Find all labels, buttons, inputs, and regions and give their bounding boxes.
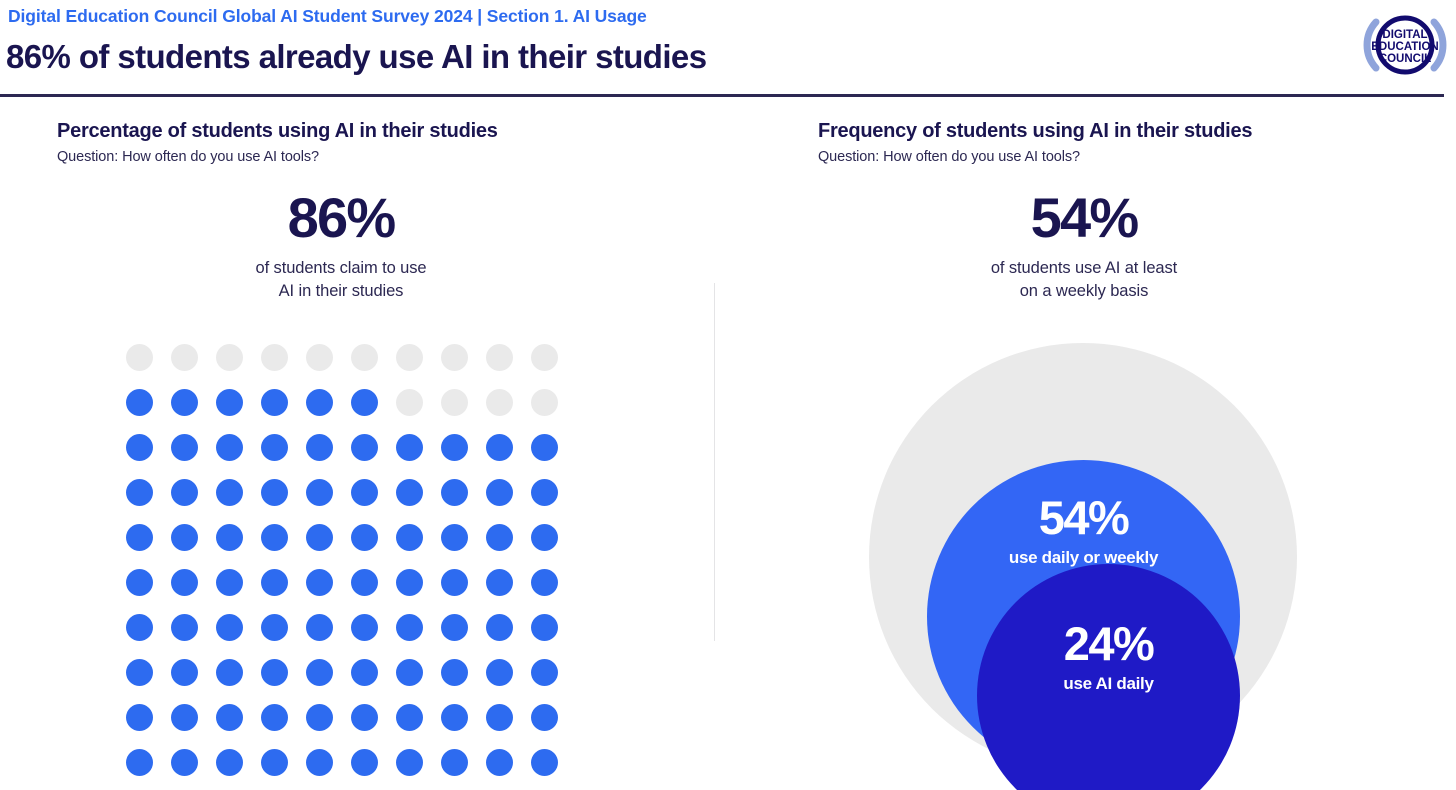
left-stat-caption-line2: AI in their studies <box>279 282 404 300</box>
waffle-dot-filled <box>486 569 513 596</box>
right-panel-question: Question: How often do you use AI tools? <box>818 147 1438 167</box>
waffle-dot-empty <box>531 344 558 371</box>
waffle-dot-filled <box>531 659 558 686</box>
right-stat-block: 54% of students use AI at least on a wee… <box>818 187 1350 303</box>
waffle-dot-filled <box>126 434 153 461</box>
left-panel-title: Percentage of students using AI in their… <box>57 118 697 144</box>
waffle-dot-filled <box>351 614 378 641</box>
waffle-dot-filled <box>396 704 423 731</box>
right-stat-caption: of students use AI at least on a weekly … <box>818 257 1350 303</box>
waffle-dot-filled <box>306 524 333 551</box>
waffle-dot-filled <box>441 569 468 596</box>
waffle-dot-empty <box>441 344 468 371</box>
waffle-dot-filled <box>396 524 423 551</box>
waffle-dot-filled <box>126 749 153 776</box>
left-stat-caption: of students claim to use AI in their stu… <box>57 257 625 303</box>
slide-header: Digital Education Council Global AI Stud… <box>0 0 1456 96</box>
waffle-dot-filled <box>441 434 468 461</box>
right-stat-caption-line2: on a weekly basis <box>1020 282 1149 300</box>
waffle-dot-filled <box>171 569 198 596</box>
right-panel: Frequency of students using AI in their … <box>818 118 1438 303</box>
digital-education-council-logo-icon: DIGITAL EDUCATION COUNCIL <box>1362 2 1448 88</box>
svg-text:DIGITAL: DIGITAL <box>1382 29 1427 41</box>
waffle-dot-filled <box>261 704 288 731</box>
waffle-chart-dot-grid <box>126 344 576 790</box>
waffle-dot-filled <box>171 704 198 731</box>
waffle-dot-filled <box>171 659 198 686</box>
section-eyebrow: Digital Education Council Global AI Stud… <box>8 6 647 27</box>
waffle-dot-filled <box>486 659 513 686</box>
right-panel-title: Frequency of students using AI in their … <box>818 118 1438 144</box>
waffle-dot-filled <box>126 524 153 551</box>
waffle-dot-filled <box>306 704 333 731</box>
waffle-dot-filled <box>531 434 558 461</box>
waffle-dot-empty <box>306 344 333 371</box>
waffle-dot-empty <box>351 344 378 371</box>
waffle-dot-filled <box>486 749 513 776</box>
waffle-dot-filled <box>396 749 423 776</box>
waffle-dot-filled <box>261 524 288 551</box>
waffle-dot-filled <box>351 389 378 416</box>
waffle-dot-filled <box>261 479 288 506</box>
waffle-dot-filled <box>441 749 468 776</box>
waffle-dot-filled <box>396 614 423 641</box>
waffle-dot-filled <box>441 659 468 686</box>
circle-daily-percent: 24% <box>1064 618 1154 670</box>
waffle-dot-filled <box>306 479 333 506</box>
waffle-dot-filled <box>306 659 333 686</box>
left-panel-question: Question: How often do you use AI tools? <box>57 147 697 167</box>
waffle-dot-filled <box>441 614 468 641</box>
waffle-dot-filled <box>531 749 558 776</box>
waffle-dot-filled <box>486 479 513 506</box>
waffle-dot-filled <box>126 479 153 506</box>
waffle-dot-empty <box>441 389 468 416</box>
waffle-dot-filled <box>216 749 243 776</box>
waffle-dot-filled <box>216 614 243 641</box>
left-stat-caption-line1: of students claim to use <box>256 259 427 277</box>
waffle-dot-filled <box>216 569 243 596</box>
waffle-dot-empty <box>171 344 198 371</box>
left-stat-number: 86% <box>57 187 625 249</box>
waffle-dot-filled <box>171 434 198 461</box>
right-stat-number: 54% <box>818 187 1350 249</box>
waffle-dot-filled <box>261 389 288 416</box>
waffle-dot-filled <box>396 659 423 686</box>
waffle-dot-empty <box>531 389 558 416</box>
waffle-dot-filled <box>351 749 378 776</box>
circle-weekly-percent: 54% <box>1039 492 1129 544</box>
waffle-dot-filled <box>306 614 333 641</box>
waffle-dot-filled <box>486 704 513 731</box>
left-stat-block: 86% of students claim to use AI in their… <box>57 187 625 303</box>
waffle-dot-empty <box>216 344 243 371</box>
waffle-dot-filled <box>216 479 243 506</box>
waffle-dot-filled <box>171 614 198 641</box>
waffle-dot-filled <box>216 659 243 686</box>
waffle-dot-filled <box>396 434 423 461</box>
waffle-dot-filled <box>486 524 513 551</box>
waffle-dot-filled <box>216 704 243 731</box>
waffle-dot-filled <box>531 479 558 506</box>
waffle-dot-filled <box>351 704 378 731</box>
waffle-dot-empty <box>396 389 423 416</box>
panel-divider <box>714 283 715 641</box>
waffle-dot-empty <box>486 344 513 371</box>
waffle-dot-filled <box>126 704 153 731</box>
waffle-dot-filled <box>531 614 558 641</box>
waffle-dot-filled <box>306 389 333 416</box>
header-divider <box>0 94 1444 97</box>
waffle-dot-empty <box>396 344 423 371</box>
page-title: 86% of students already use AI in their … <box>6 38 706 76</box>
circle-daily-label: use AI daily <box>1063 673 1153 695</box>
waffle-dot-empty <box>486 389 513 416</box>
waffle-dot-filled <box>171 479 198 506</box>
waffle-dot-filled <box>531 569 558 596</box>
waffle-dot-filled <box>531 704 558 731</box>
waffle-dot-filled <box>261 434 288 461</box>
waffle-dot-filled <box>126 569 153 596</box>
waffle-dot-filled <box>216 389 243 416</box>
waffle-dot-filled <box>351 434 378 461</box>
waffle-dot-filled <box>486 614 513 641</box>
waffle-dot-filled <box>396 569 423 596</box>
right-stat-caption-line1: of students use AI at least <box>991 259 1177 277</box>
waffle-dot-filled <box>396 479 423 506</box>
left-panel: Percentage of students using AI in their… <box>57 118 697 303</box>
svg-text:COUNCIL: COUNCIL <box>1379 53 1431 65</box>
waffle-dot-empty <box>126 344 153 371</box>
waffle-dot-filled <box>441 524 468 551</box>
waffle-dot-filled <box>216 434 243 461</box>
waffle-dot-filled <box>351 569 378 596</box>
waffle-dot-filled <box>306 434 333 461</box>
waffle-dot-filled <box>261 569 288 596</box>
waffle-dot-filled <box>351 524 378 551</box>
waffle-dot-filled <box>351 479 378 506</box>
slide-root: Digital Education Council Global AI Stud… <box>0 0 1456 790</box>
waffle-dot-filled <box>441 704 468 731</box>
waffle-dot-filled <box>441 479 468 506</box>
waffle-dot-filled <box>171 524 198 551</box>
svg-text:EDUCATION: EDUCATION <box>1371 41 1439 53</box>
waffle-dot-filled <box>126 614 153 641</box>
waffle-dot-filled <box>261 614 288 641</box>
waffle-dot-filled <box>126 659 153 686</box>
waffle-dot-filled <box>171 749 198 776</box>
waffle-dot-filled <box>216 524 243 551</box>
nested-circles-chart: 54% use daily or weekly 24% use AI daily <box>869 343 1297 771</box>
waffle-dot-filled <box>306 749 333 776</box>
waffle-dot-filled <box>486 434 513 461</box>
waffle-dot-empty <box>261 344 288 371</box>
waffle-dot-filled <box>531 524 558 551</box>
waffle-dot-filled <box>171 389 198 416</box>
waffle-dot-filled <box>261 659 288 686</box>
waffle-dot-filled <box>306 569 333 596</box>
waffle-dot-filled <box>351 659 378 686</box>
waffle-dot-filled <box>126 389 153 416</box>
waffle-dot-filled <box>261 749 288 776</box>
